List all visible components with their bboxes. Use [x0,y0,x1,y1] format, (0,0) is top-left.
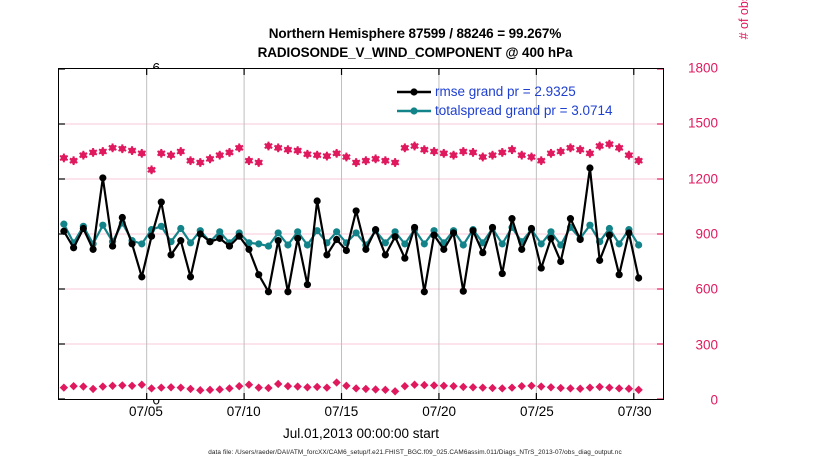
legend-label-totalspread: totalspread grand pr = 3.0714 [435,103,613,118]
chart-root: Northern Hemisphere 87599 / 88246 = 99.2… [0,0,830,470]
chart-legend: rmse grand pr = 2.9325 totalspread grand… [392,80,617,123]
chart-title-line2: RADIOSONDE_V_WIND_COMPONENT @ 400 hPa [0,43,830,62]
x-axis-tick: 07/15 [306,404,376,419]
y-axis-right-tick: 900 [672,227,718,242]
data-file-footer: data file: /Users/raeder/DAI/ATM_forcXX/… [0,449,830,456]
legend-marker-rmse-icon [396,85,432,99]
chart-title: Northern Hemisphere 87599 / 88246 = 99.2… [0,24,830,62]
x-axis-tick: 07/10 [209,404,279,419]
chart-title-line1: Northern Hemisphere 87599 / 88246 = 99.2… [0,24,830,43]
y-axis-right-tick: 1200 [672,171,718,186]
y-axis-right-tick: 300 [672,337,718,352]
legend-item-totalspread: totalspread grand pr = 3.0714 [396,101,613,120]
y-axis-right-tick: 600 [672,282,718,297]
y-axis-right-tick: 1800 [672,61,718,76]
x-axis-tick: 07/05 [111,404,181,419]
y-axis-right-tick: 1500 [672,116,718,131]
legend-item-rmse: rmse grand pr = 2.9325 [396,82,613,101]
x-axis-label: Jul.01,2013 00:00:00 start [58,426,664,441]
legend-marker-totalspread-icon [396,104,432,118]
y-axis-right-label: # of obs: o=possible; ∗=assimilated [736,0,751,90]
x-axis-tick: 07/20 [404,404,474,419]
x-axis-tick: 07/25 [502,404,572,419]
legend-label-rmse: rmse grand pr = 2.9325 [435,84,576,99]
y-axis-right-tick: 0 [672,393,718,408]
x-axis-tick: 07/30 [600,404,670,419]
